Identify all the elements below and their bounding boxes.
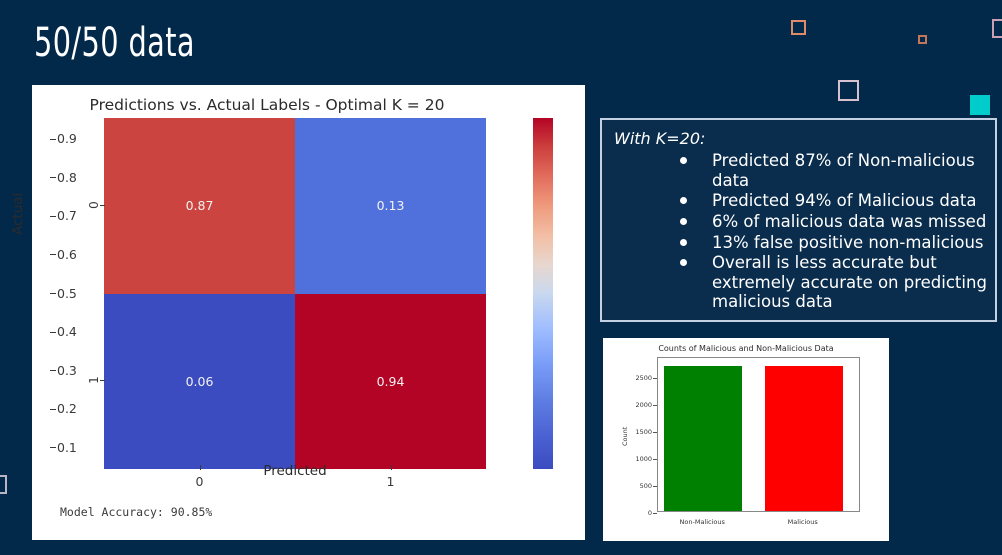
y-axis-tick-1: 1 — [78, 373, 98, 387]
summary-callout-box: With K=20: Predicted 87% of Non-maliciou… — [600, 118, 997, 322]
confusion-matrix-y-axis-label: Actual — [10, 193, 26, 235]
deco-square-cyan-filled — [970, 95, 990, 115]
bar-y-tick-1000: 1000 — [628, 455, 652, 463]
callout-bullet-1: Predicted 87% of Non-malicious data — [676, 151, 991, 190]
bar-y-tick-500: 500 — [628, 482, 652, 490]
callout-bullet-text: Predicted 87% of Non-malicious data — [712, 151, 975, 190]
bar-non-malicious — [664, 366, 742, 512]
confusion-matrix-title: Predictions vs. Actual Labels - Optimal … — [32, 96, 502, 114]
callout-bullet-list: Predicted 87% of Non-malicious dataPredi… — [676, 151, 991, 313]
bar-y-tick-0: 0 — [628, 509, 652, 517]
bar-malicious — [765, 366, 843, 511]
confusion-matrix-plot-area: 0.87 0.13 0.06 0.94 0 1 0 1 — [104, 118, 486, 469]
heatmap-cell-value: 0.06 — [186, 374, 214, 389]
colorbar-tick-0.2: 0.2 — [57, 401, 77, 416]
heatmap-cell-actual1-predicted1: 0.94 — [295, 294, 486, 470]
colorbar-tick-0.6: 0.6 — [57, 247, 77, 262]
bar-x-tick-non-malicious: Non-Malicious — [662, 518, 742, 526]
bullet-dot-icon — [680, 218, 687, 225]
bar-chart-plot-area: 05001000150020002500Non-MaliciousMalicio… — [657, 357, 860, 512]
bullet-dot-icon — [680, 259, 687, 266]
heatmap-cell-actual0-predicted0: 0.87 — [104, 118, 295, 294]
model-accuracy-text: Model Accuracy: 90.85% — [60, 505, 212, 519]
colorbar-tick-0.4: 0.4 — [57, 324, 77, 339]
bar-y-tick-1500: 1500 — [628, 428, 652, 436]
heatmap-cell-value: 0.13 — [377, 198, 405, 213]
bullet-dot-icon — [680, 239, 687, 246]
heatmap-cell-value: 0.94 — [377, 374, 405, 389]
callout-bullet-2: Predicted 94% of Malicious data — [676, 191, 991, 211]
y-axis-tick-0: 0 — [78, 198, 98, 212]
counts-bar-chart-figure: Counts of Malicious and Non-Malicious Da… — [603, 338, 889, 541]
confusion-matrix-figure: Predictions vs. Actual Labels - Optimal … — [32, 85, 585, 540]
bullet-dot-icon — [680, 157, 687, 164]
colorbar-tick-0.1: 0.1 — [57, 440, 77, 455]
heatmap-cell-value: 0.87 — [186, 198, 214, 213]
callout-bullet-text: Predicted 94% of Malicious data — [712, 191, 977, 210]
deco-square-salmon-small — [918, 35, 927, 44]
colorbar-tick-0.7: 0.7 — [57, 208, 77, 223]
bullet-dot-icon — [680, 197, 687, 204]
bar-y-tick-2500: 2500 — [628, 374, 652, 382]
page-title: 50/50 data — [34, 22, 195, 64]
callout-bullet-text: Overall is less accurate but extremely a… — [712, 253, 987, 311]
bar-x-tick-malicious: Malicious — [763, 518, 843, 526]
callout-bullet-text: 13% false positive non-malicious — [712, 233, 984, 252]
deco-square-lavender-left — [0, 475, 7, 494]
colorbar-tick-0.5: 0.5 — [57, 286, 77, 301]
colorbar — [533, 118, 553, 469]
deco-square-pink-right — [992, 19, 1002, 38]
callout-bullet-text: 6% of malicious data was missed — [712, 212, 986, 231]
callout-lead-text: With K=20: — [614, 129, 705, 148]
colorbar-tick-0.9: 0.9 — [57, 131, 77, 146]
bar-y-tick-2000: 2000 — [628, 401, 652, 409]
deco-square-pink-mid — [838, 80, 859, 101]
heatmap-cell-actual1-predicted0: 0.06 — [104, 294, 295, 470]
callout-bullet-3: 6% of malicious data was missed — [676, 212, 991, 232]
heatmap-cell-actual0-predicted1: 0.13 — [295, 118, 486, 294]
confusion-matrix-x-axis-label: Predicted — [104, 463, 486, 479]
deco-square-salmon-top — [791, 20, 806, 35]
colorbar-tick-0.3: 0.3 — [57, 363, 77, 378]
callout-bullet-5: Overall is less accurate but extremely a… — [676, 253, 991, 312]
callout-bullet-4: 13% false positive non-malicious — [676, 233, 991, 253]
bar-chart-title: Counts of Malicious and Non-Malicious Da… — [603, 344, 889, 353]
colorbar-tick-0.8: 0.8 — [57, 170, 77, 185]
